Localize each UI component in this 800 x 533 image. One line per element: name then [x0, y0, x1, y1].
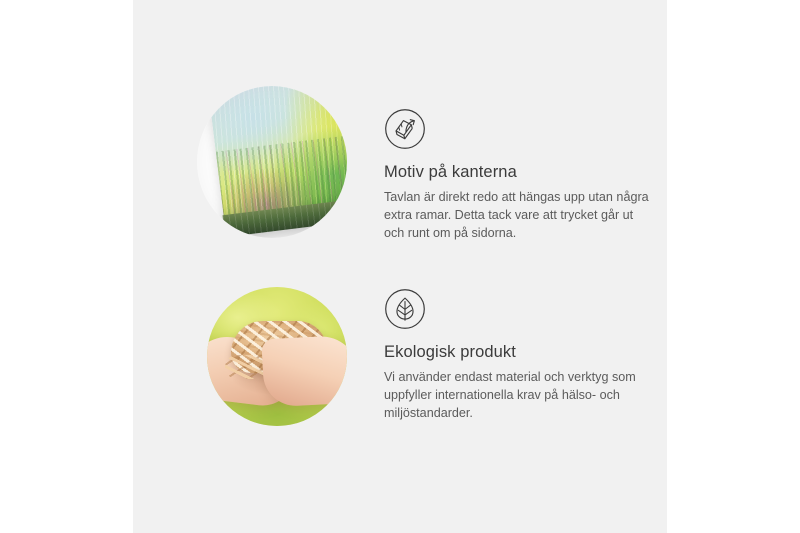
feature-title: Ekologisk produkt: [384, 343, 652, 363]
feature-description: Tavlan är direkt redo att hängas upp uta…: [384, 188, 652, 243]
canvas-wrapped-edges-icon: [384, 108, 426, 150]
feature-block-motiv: Motiv på kanterna Tavlan är direkt redo …: [384, 108, 652, 243]
product-feature-panel: Motiv på kanterna Tavlan är direkt redo …: [0, 0, 800, 533]
feature-title: Motiv på kanterna: [384, 163, 652, 183]
canvas-print-photo: [197, 86, 347, 238]
canvas-artwork: [208, 86, 347, 238]
wood-chips-in-hands-photo: [207, 287, 347, 426]
leaf-icon: [384, 288, 426, 330]
right-hand: [261, 335, 347, 408]
feature-block-ekologisk: Ekologisk produkt Vi använder endast mat…: [384, 288, 652, 423]
feature-description: Vi använder endast material och verktyg …: [384, 368, 652, 423]
background-panel: [133, 0, 667, 533]
